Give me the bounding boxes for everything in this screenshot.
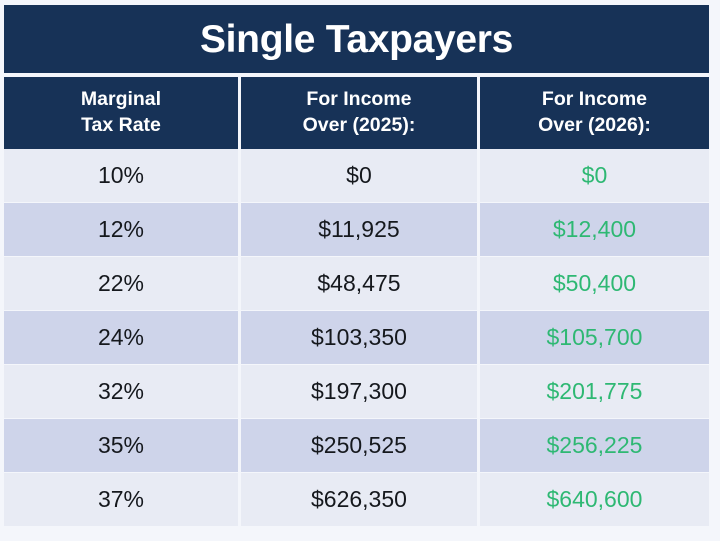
column-header-income-over-2025: For Income Over (2025): <box>241 77 477 149</box>
cell-income-over-2025: $48,475 <box>241 257 477 310</box>
column-header-line-2: Over (2025): <box>303 113 416 139</box>
cell-income-over-2025: $0 <box>241 149 477 202</box>
table-row: 35% $250,525 $256,225 <box>4 419 709 472</box>
cell-marginal-tax-rate: 22% <box>4 257 238 310</box>
cell-income-over-2026: $201,775 <box>480 365 709 418</box>
table-row: 12% $11,925 $12,400 <box>4 203 709 256</box>
table-row: 24% $103,350 $105,700 <box>4 311 709 364</box>
cell-marginal-tax-rate: 24% <box>4 311 238 364</box>
cell-income-over-2025: $250,525 <box>241 419 477 472</box>
page-title: Single Taxpayers <box>200 20 513 59</box>
column-header-income-over-2026: For Income Over (2026): <box>480 77 709 149</box>
table-row: 10% $0 $0 <box>4 149 709 202</box>
table-body: 10% $0 $0 12% $11,925 $12,400 22% $48,47… <box>4 149 709 536</box>
cell-marginal-tax-rate: 10% <box>4 149 238 202</box>
tax-bracket-table: Single Taxpayers Marginal Tax Rate For I… <box>4 5 709 536</box>
column-header-line-2: Tax Rate <box>81 113 161 139</box>
cell-marginal-tax-rate: 32% <box>4 365 238 418</box>
table-row: 22% $48,475 $50,400 <box>4 257 709 310</box>
column-header-line-1: For Income <box>538 87 651 113</box>
cell-income-over-2026: $0 <box>480 149 709 202</box>
cell-income-over-2026: $105,700 <box>480 311 709 364</box>
cell-income-over-2026: $640,600 <box>480 473 709 526</box>
table-title-banner: Single Taxpayers <box>4 5 709 73</box>
cell-marginal-tax-rate: 37% <box>4 473 238 526</box>
table-row: 32% $197,300 $201,775 <box>4 365 709 418</box>
table-row: 37% $626,350 $640,600 <box>4 473 709 526</box>
table-header-row: Marginal Tax Rate For Income Over (2025)… <box>4 73 709 149</box>
cell-marginal-tax-rate: 12% <box>4 203 238 256</box>
column-header-line-1: Marginal <box>81 87 161 113</box>
tax-bracket-table-page: Single Taxpayers Marginal Tax Rate For I… <box>0 0 720 541</box>
cell-income-over-2026: $50,400 <box>480 257 709 310</box>
column-header-line-2: Over (2026): <box>538 113 651 139</box>
column-header-marginal-tax-rate: Marginal Tax Rate <box>4 77 238 149</box>
cell-income-over-2025: $103,350 <box>241 311 477 364</box>
cell-marginal-tax-rate: 35% <box>4 419 238 472</box>
cell-income-over-2025: $11,925 <box>241 203 477 256</box>
cell-income-over-2026: $12,400 <box>480 203 709 256</box>
cell-income-over-2025: $197,300 <box>241 365 477 418</box>
cell-income-over-2025: $626,350 <box>241 473 477 526</box>
column-header-line-1: For Income <box>303 87 416 113</box>
table-bottom-spacer <box>4 527 709 536</box>
cell-income-over-2026: $256,225 <box>480 419 709 472</box>
